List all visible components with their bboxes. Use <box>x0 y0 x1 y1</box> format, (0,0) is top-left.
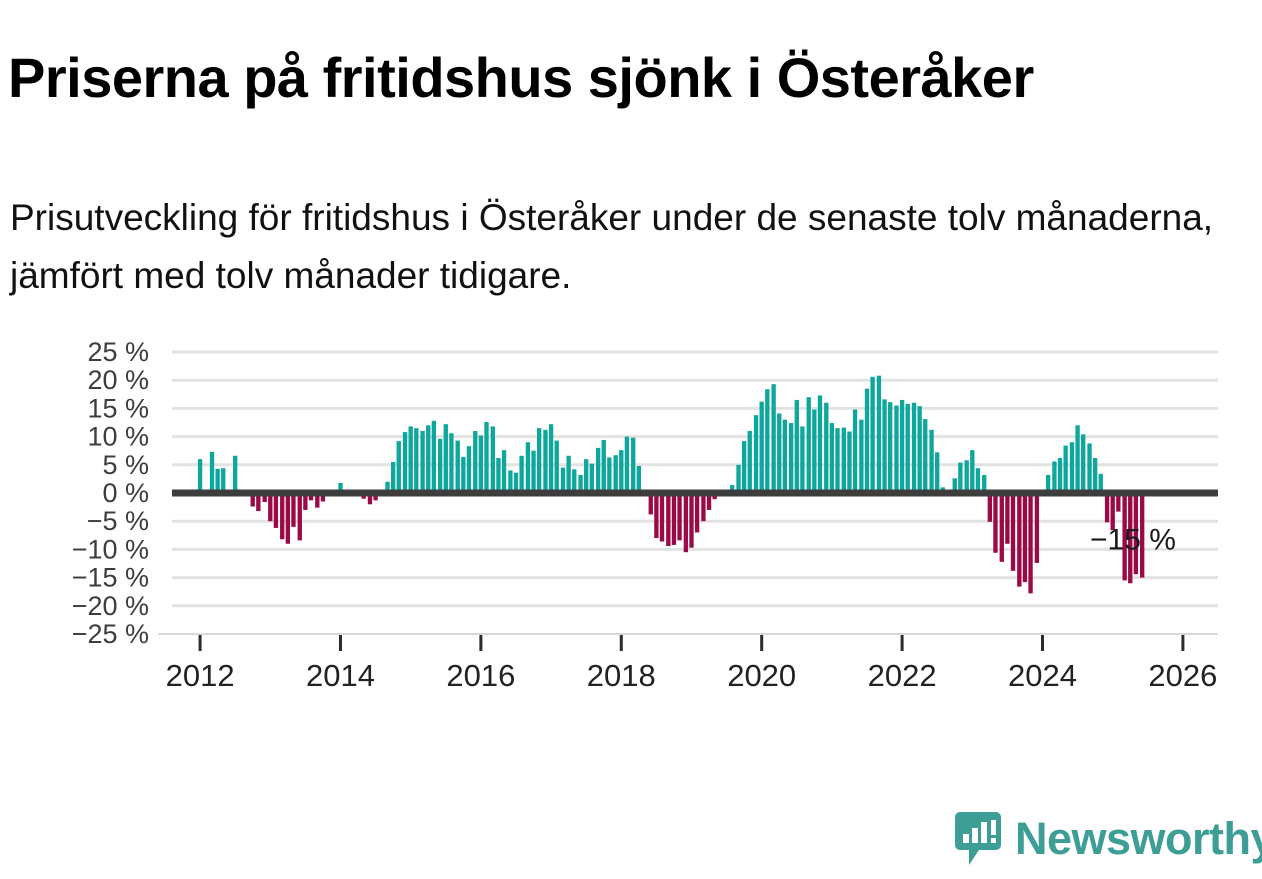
x-axis-tick-label: 2014 <box>306 658 375 693</box>
y-axis-tick-label: −15 % <box>72 563 149 593</box>
bar <box>1081 434 1085 493</box>
bar <box>414 428 418 493</box>
bar <box>566 456 570 493</box>
bar <box>403 432 407 493</box>
bar <box>993 493 997 553</box>
bar <box>461 457 465 493</box>
bar <box>894 406 898 493</box>
bar <box>467 446 471 493</box>
bar <box>795 400 799 493</box>
y-axis-tick-label: 5 % <box>102 450 149 480</box>
bar <box>298 493 302 540</box>
bar <box>672 493 676 545</box>
bar <box>543 430 547 493</box>
bar <box>917 406 921 493</box>
bar-chart-speech-bubble-icon <box>955 812 1001 866</box>
bar <box>274 493 278 528</box>
bar <box>614 455 618 493</box>
bar <box>1058 458 1062 493</box>
bar <box>900 400 904 493</box>
logo-wordmark: Newsworthy <box>1015 816 1262 862</box>
bar <box>1087 443 1091 493</box>
bar <box>1063 446 1067 493</box>
bar <box>420 431 424 493</box>
bar <box>777 413 781 493</box>
page-subtitle: Prisutveckling för fritidshus i Österåke… <box>10 189 1240 305</box>
bar <box>830 423 834 493</box>
bar <box>221 468 225 493</box>
y-axis-tick-label: 10 % <box>87 422 149 452</box>
y-axis-labels: 25 %20 %15 %10 %5 %0 %−5 %−10 %−15 %−20 … <box>72 337 149 649</box>
bar <box>800 426 804 493</box>
bar <box>561 468 565 493</box>
bar <box>929 430 933 493</box>
bar <box>1011 493 1015 571</box>
bar <box>1105 493 1109 522</box>
chart-canvas: 25 %20 %15 %10 %5 %0 %−5 %−10 %−15 %−20 … <box>0 330 1262 710</box>
bar <box>812 410 816 493</box>
bar <box>689 493 693 548</box>
bar <box>619 450 623 493</box>
bar <box>882 399 886 493</box>
bar <box>1017 493 1021 587</box>
y-axis-tick-label: −25 % <box>72 619 149 649</box>
bar <box>233 456 237 493</box>
bar <box>783 420 787 493</box>
bar <box>637 466 641 493</box>
bar <box>965 460 969 493</box>
bar <box>1023 493 1027 582</box>
annotation-value-label: −15 % <box>1090 524 1176 557</box>
bar <box>491 426 495 493</box>
bar <box>771 384 775 493</box>
bar <box>1035 493 1039 563</box>
bar <box>818 395 822 493</box>
bar <box>988 493 992 522</box>
bar <box>660 493 664 542</box>
y-axis-tick-label: −10 % <box>72 534 149 564</box>
bar <box>432 421 436 493</box>
bar <box>877 376 881 493</box>
bar <box>742 441 746 493</box>
bar <box>888 402 892 493</box>
bar <box>760 402 764 493</box>
bar <box>906 404 910 493</box>
bar <box>215 469 219 493</box>
bar <box>736 465 740 493</box>
bar <box>748 431 752 493</box>
bar <box>684 493 688 552</box>
bar <box>526 442 530 493</box>
bar <box>537 428 541 493</box>
x-axis-tick-label: 2024 <box>1008 658 1077 693</box>
bar <box>976 468 980 493</box>
bar <box>596 448 600 493</box>
chart-page: Priserna på fritidshus sjönk i Österåker… <box>0 0 1262 879</box>
bar <box>935 452 939 493</box>
x-axis-tick-label: 2022 <box>868 658 937 693</box>
bar <box>607 457 611 493</box>
bar <box>409 426 413 493</box>
bar <box>397 441 401 493</box>
bar <box>701 493 705 521</box>
bar <box>859 420 863 493</box>
bar <box>923 419 927 493</box>
bar <box>531 451 535 493</box>
bar <box>280 493 284 539</box>
x-axis <box>158 634 1218 651</box>
bar <box>1093 458 1097 493</box>
x-axis-labels: 20122014201620182020202220242026 <box>166 658 1218 693</box>
bar <box>210 452 214 493</box>
bar <box>631 438 635 493</box>
x-axis-tick-label: 2018 <box>587 658 656 693</box>
bar <box>842 428 846 493</box>
bar <box>502 450 506 493</box>
bar <box>449 433 453 493</box>
bar <box>789 423 793 493</box>
bar <box>654 493 658 538</box>
bar <box>754 415 758 493</box>
bar <box>1075 425 1079 493</box>
bar <box>519 456 523 493</box>
bar <box>456 441 460 493</box>
bar <box>677 493 681 540</box>
y-axis-tick-label: 0 % <box>102 478 149 508</box>
bar <box>847 432 851 493</box>
bar-chart: 25 %20 %15 %10 %5 %0 %−5 %−10 %−15 %−20 … <box>0 330 1262 710</box>
bar <box>438 439 442 493</box>
bar <box>1000 493 1004 562</box>
bar <box>426 425 430 493</box>
x-axis-tick-label: 2016 <box>446 658 515 693</box>
newsworthy-logo[interactable]: Newsworthy <box>955 812 1262 866</box>
bar <box>958 463 962 493</box>
bar <box>590 464 594 493</box>
bar <box>765 389 769 493</box>
bar <box>824 403 828 493</box>
bar <box>835 428 839 493</box>
bar <box>1028 493 1032 593</box>
bar <box>198 459 202 493</box>
bar <box>496 458 500 493</box>
bar <box>473 431 477 493</box>
y-axis-tick-label: −5 % <box>87 506 149 536</box>
bar <box>695 493 699 532</box>
chart-annotations: −15 % <box>1090 524 1176 557</box>
bar <box>479 435 483 493</box>
bar <box>870 377 874 493</box>
bar <box>853 410 857 493</box>
y-axis-tick-label: −20 % <box>72 591 149 621</box>
bar <box>286 493 290 544</box>
bar <box>584 459 588 493</box>
x-axis-tick-label: 2020 <box>727 658 796 693</box>
bar <box>602 440 606 493</box>
bar <box>970 450 974 493</box>
y-axis-tick-label: 20 % <box>87 365 149 395</box>
bar <box>1005 493 1009 544</box>
bar <box>666 493 670 546</box>
bar <box>444 424 448 493</box>
y-axis-tick-label: 25 % <box>87 337 149 367</box>
bar <box>1052 461 1056 493</box>
bar <box>1070 442 1074 493</box>
bar <box>391 462 395 493</box>
bar <box>549 424 553 493</box>
bar <box>268 493 272 521</box>
x-axis-tick-label: 2026 <box>1148 658 1217 693</box>
bar <box>291 493 295 527</box>
x-axis-tick-label: 2012 <box>166 658 235 693</box>
page-title: Priserna på fritidshus sjönk i Österåker <box>8 46 1254 110</box>
bar <box>807 397 811 493</box>
y-axis-tick-label: 15 % <box>87 393 149 423</box>
bar <box>865 389 869 493</box>
bar <box>555 441 559 493</box>
bar <box>912 403 916 493</box>
bar <box>484 422 488 493</box>
bar <box>572 469 576 493</box>
bar <box>625 437 629 493</box>
